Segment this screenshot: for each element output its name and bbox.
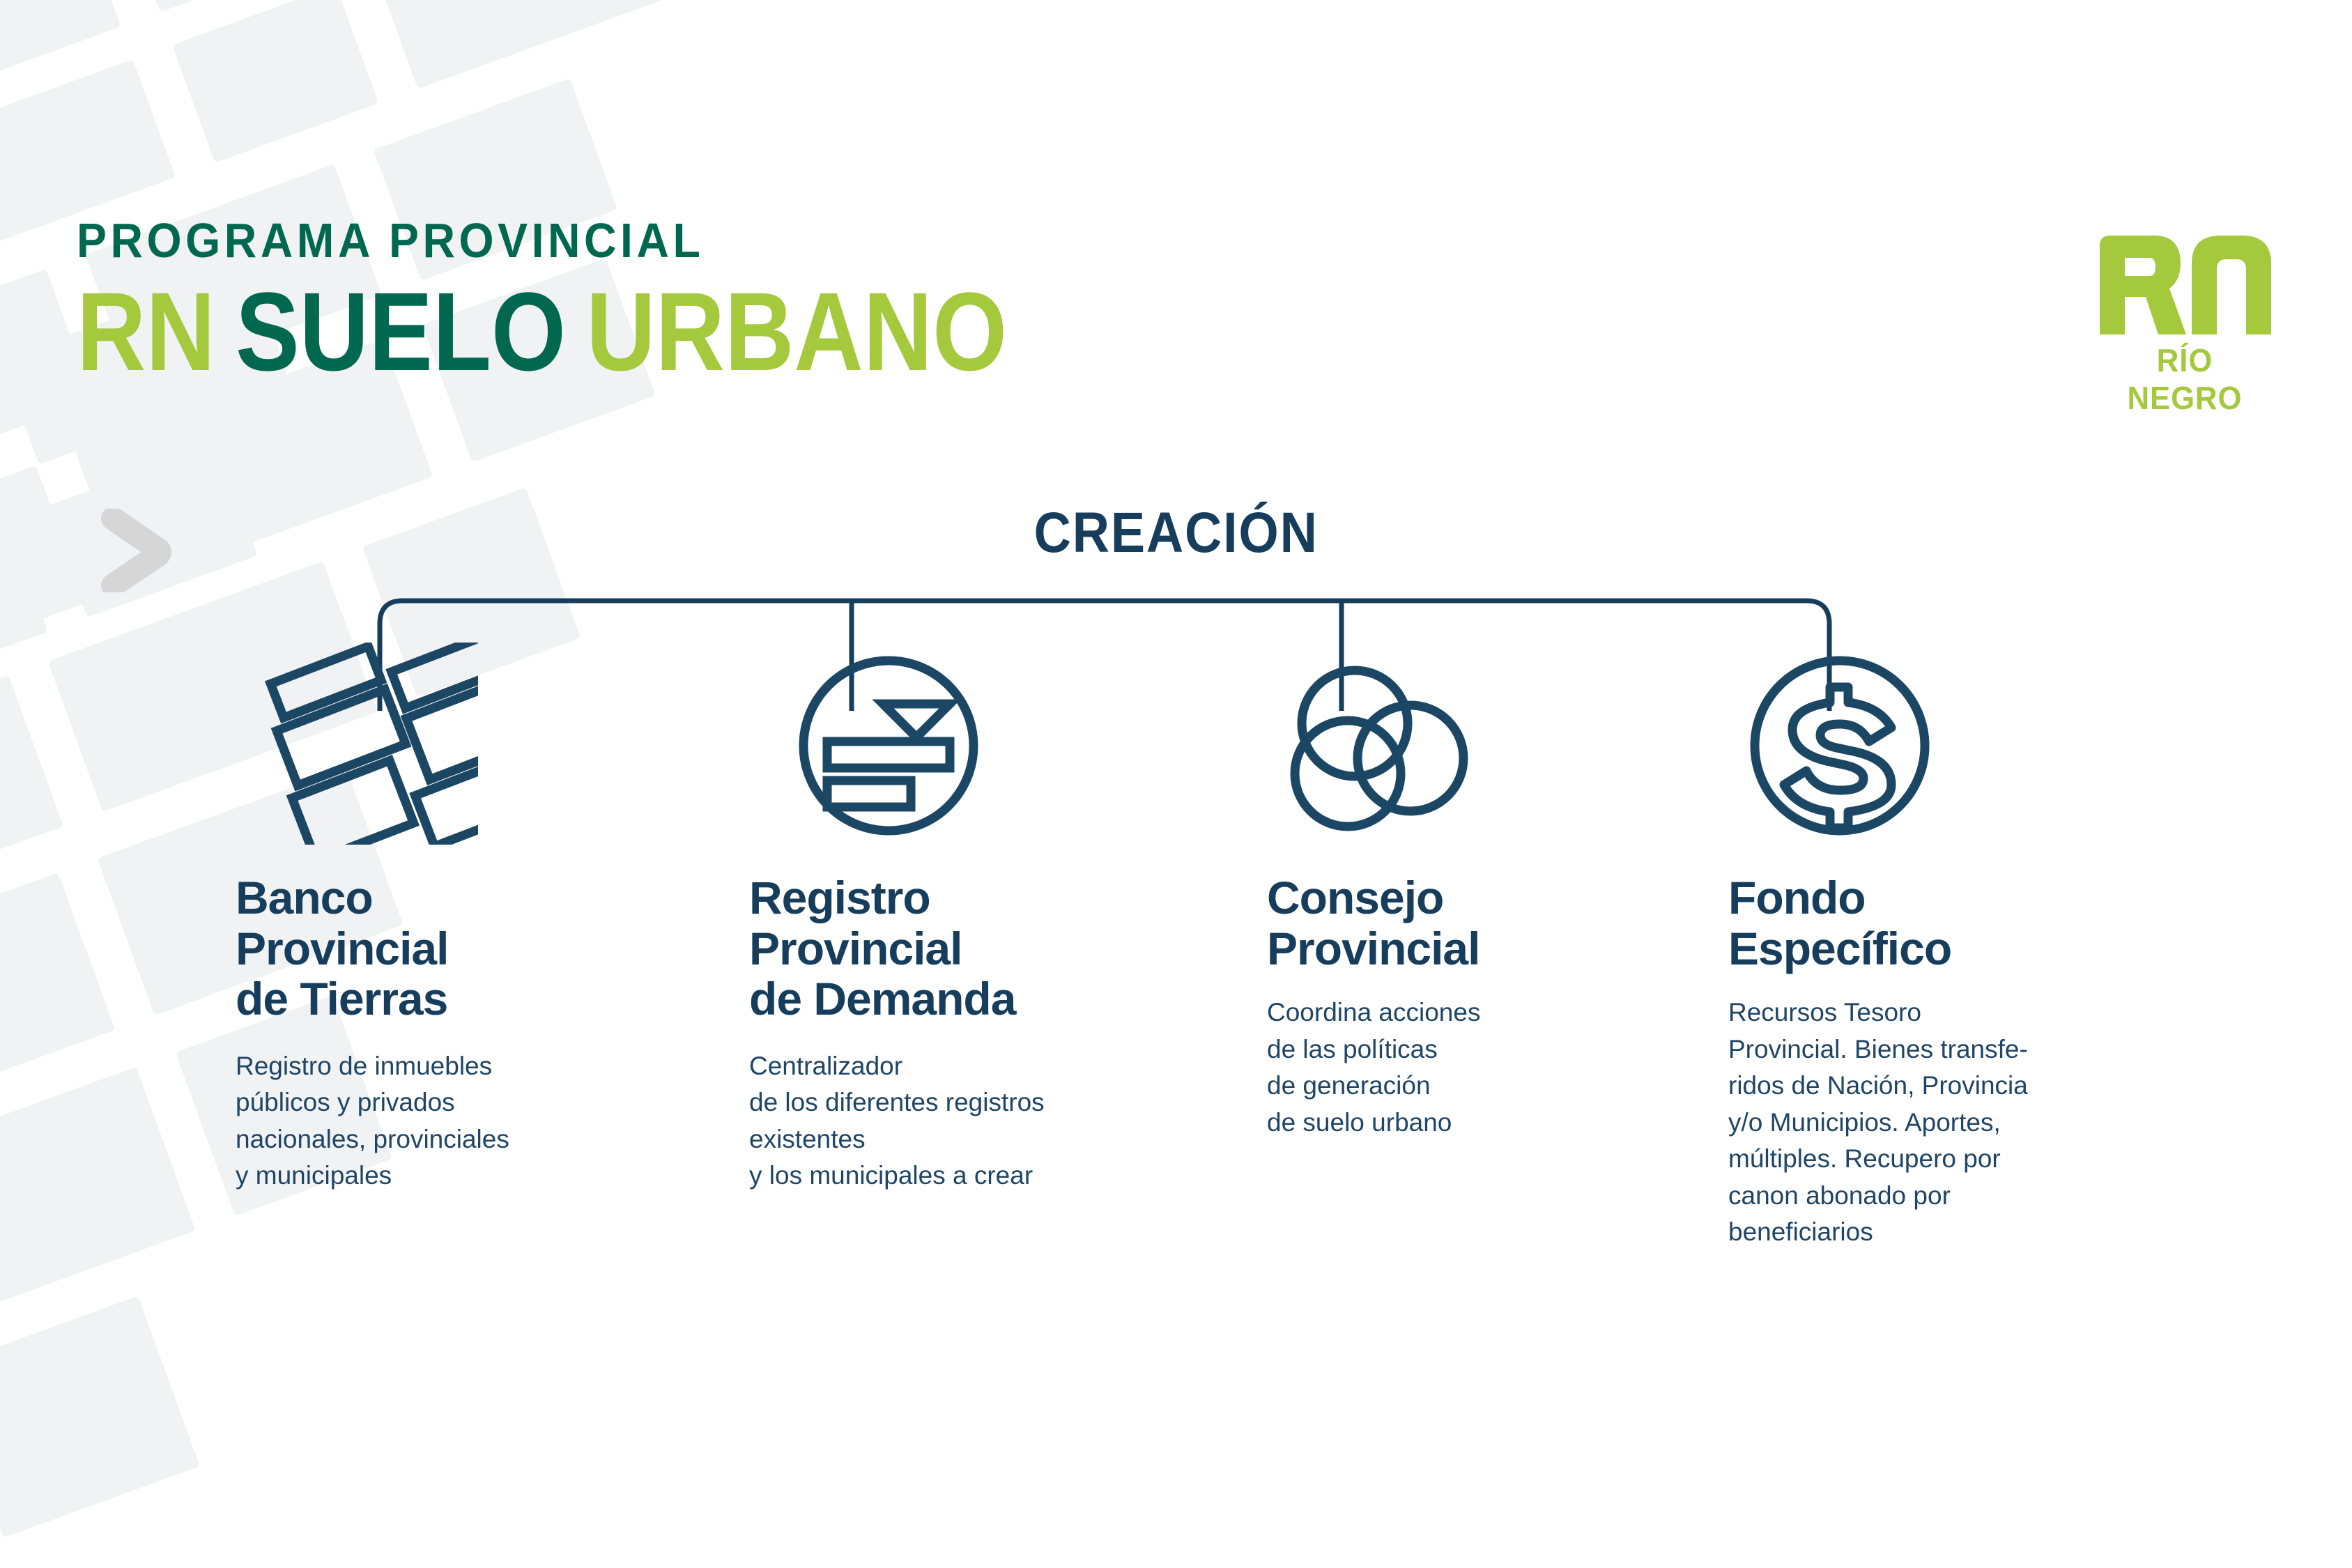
section-label-text: CREACIÓN: [1033, 500, 1318, 566]
three-circles-icon: [1281, 655, 1476, 836]
land-parcels-icon: [255, 643, 478, 845]
diagram-node-fondo-especifico: Fondo Específico Recursos Tesoro Provinc…: [1728, 648, 2146, 1251]
node-description: Registro de inmuebles públicos y privado…: [236, 1048, 668, 1194]
program-title: RNSUELOURBANO: [77, 276, 1007, 387]
node-title: Consejo Provincial: [1267, 873, 1657, 974]
diagram-node-registro-provincial-de-demanda: Registro Provincial de Demanda Centraliz…: [749, 648, 1237, 1194]
node-icon-container: [236, 648, 668, 857]
node-description: Recursos Tesoro Provincial. Bienes trans…: [1728, 994, 2146, 1251]
title-urbano: URBANO: [586, 269, 1007, 394]
node-icon-container: [1267, 648, 1657, 857]
program-kicker: PROGRAMA PROVINCIAL: [77, 216, 1072, 265]
node-icon-container: [1728, 648, 2146, 857]
poster-header: PROGRAMA PROVINCIAL RNSUELOURBANO: [77, 216, 1158, 387]
title-suelo: SUELO: [236, 269, 566, 394]
node-description: Centralizador de los diferentes registro…: [749, 1048, 1237, 1194]
rn-logo-mark: [2094, 230, 2275, 335]
node-title: Registro Provincial de Demanda: [749, 873, 1237, 1024]
title-rn: RN: [77, 269, 215, 394]
diagram-columns: Banco Provincial de Tierras Registro de …: [0, 648, 2352, 1415]
diagram-node-banco-provincial-de-tierras: Banco Provincial de Tierras Registro de …: [236, 648, 668, 1194]
node-icon-container: [749, 648, 1237, 857]
rio-negro-logo: RÍO NEGRO: [2094, 230, 2275, 417]
section-label-creacion: CREACIÓN: [0, 500, 2352, 566]
diagram-node-consejo-provincial: Consejo Provincial Coordina acciones de …: [1267, 648, 1657, 1141]
node-title: Fondo Específico: [1728, 873, 2146, 974]
dollar-circle-icon: [1742, 655, 1937, 836]
logo-subtitle: RÍO NEGRO: [2099, 341, 2271, 417]
registry-filter-icon: [791, 655, 986, 836]
node-title: Banco Provincial de Tierras: [236, 873, 668, 1024]
node-description: Coordina acciones de las políticas de ge…: [1267, 994, 1657, 1141]
infographic-poster: PROGRAMA PROVINCIAL RNSUELOURBANO RÍO NE…: [0, 0, 2352, 1568]
